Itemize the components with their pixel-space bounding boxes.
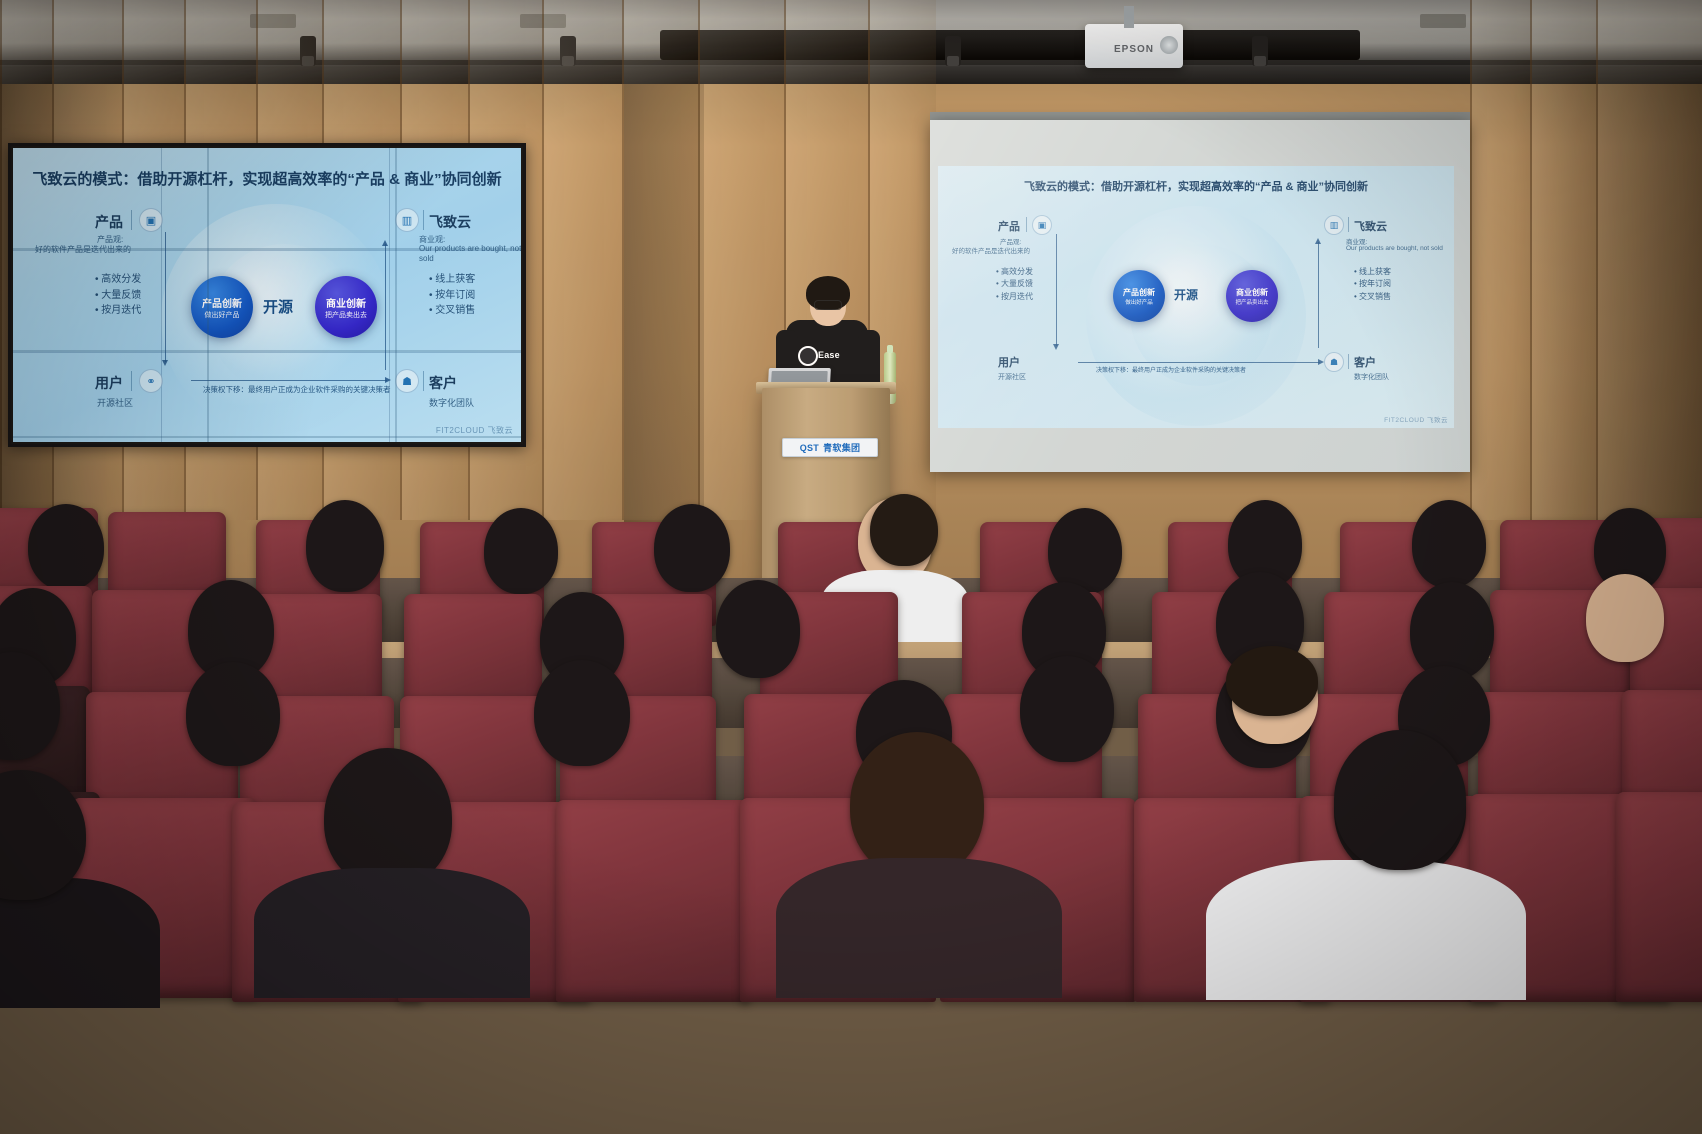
audience-head xyxy=(534,660,630,766)
ball-line-1: 商业创新 xyxy=(1236,287,1268,298)
node-subtext-product: 好的软件产品是迭代出来的 xyxy=(952,245,1030,255)
node-divider xyxy=(423,371,424,391)
bullets-business: • 线上获客 • 按年订阅 • 交叉销售 xyxy=(419,272,475,319)
audience-head xyxy=(324,748,452,888)
podium-sign-brand: QST xyxy=(800,443,819,453)
arrow-customer-to-company xyxy=(1318,242,1319,348)
arrow-head-icon xyxy=(162,360,168,366)
arrow-head-icon xyxy=(1318,359,1324,365)
slide-title: 飞致云的模式：借助开源杠杆，实现超高效率的“产品 & 商业”协同创新 xyxy=(13,168,521,189)
slide-title: 飞致云的模式：借助开源杠杆，实现超高效率的“产品 & 商业”协同创新 xyxy=(938,178,1454,194)
slide-grid-line xyxy=(13,352,521,353)
audience-shoulders xyxy=(1206,860,1526,1000)
slide-left-copy: 飞致云的模式：借助开源杠杆，实现超高效率的“产品 & 商业”协同创新 产品 ▣ … xyxy=(13,148,521,442)
bullet-item: • 按年订阅 xyxy=(1346,278,1391,290)
slide-watermark: FIT2CLOUD 飞致云 xyxy=(1384,414,1448,424)
audience-head xyxy=(1410,582,1494,680)
arrow-head-icon xyxy=(1315,238,1321,244)
bullets-business: • 线上获客 • 按年订阅 • 交叉销售 xyxy=(1346,266,1391,303)
audience-head xyxy=(1020,656,1114,762)
audience-shoulders xyxy=(254,868,530,998)
lecture-hall-photo: EPSON 飞致云的模式：借助开源杠杆，实现超高效率的“产品 & 商业”协同创新 xyxy=(0,0,1702,1134)
presenter-glasses xyxy=(814,300,842,310)
bullet-item: • 按年订阅 xyxy=(419,288,475,304)
led-tile-seam xyxy=(13,350,521,352)
node-divider xyxy=(1348,217,1349,232)
node-divider xyxy=(131,371,132,391)
ceiling-vent xyxy=(1420,14,1466,28)
center-word-opensource: 开源 xyxy=(1174,286,1198,303)
bullet-item: • 大量反馈 xyxy=(988,278,1033,290)
led-tile-seam xyxy=(395,148,397,442)
audience-head xyxy=(306,500,384,592)
node-label-fit2cloud: 飞致云 xyxy=(429,212,471,232)
node-subtext-customer: 数字化团队 xyxy=(429,396,474,409)
slide-watermark: FIT2CLOUD 飞致云 xyxy=(436,425,513,436)
node-label-product: 产品 xyxy=(95,212,123,232)
led-tile-seam xyxy=(207,148,209,442)
node-subtext-user: 开源社区 xyxy=(998,372,1026,382)
node-label-customer: 客户 xyxy=(1354,354,1376,370)
arrow-head-icon xyxy=(382,240,388,246)
bullets-product: • 高效分发 • 大量反馈 • 按月迭代 xyxy=(85,272,141,319)
audience-head xyxy=(870,494,938,566)
arrow-user-to-customer xyxy=(1078,362,1320,363)
podium-sign-name: 青软集团 xyxy=(823,441,860,454)
audience-seating: 08 27 13 11 xyxy=(0,470,1702,1134)
center-word-opensource: 开源 xyxy=(263,296,293,317)
audience-head xyxy=(1334,730,1466,870)
flow-arrow-text: 决策权下移：最终用户正成为企业软件采购的关键决策者 xyxy=(203,384,391,395)
presenter-shirt-logo: Ease xyxy=(818,350,840,360)
node-divider xyxy=(1026,217,1027,232)
podium-sign: QST 青软集团 xyxy=(782,438,878,457)
led-tile-seam xyxy=(13,248,521,250)
bullet-item: • 高效分发 xyxy=(85,272,141,288)
node-label-fit2cloud: 飞致云 xyxy=(1354,218,1387,234)
bullets-product: • 高效分发 • 大量反馈 • 按月迭代 xyxy=(988,266,1033,303)
audience-head xyxy=(716,580,800,678)
node-label-user: 用户 xyxy=(95,373,123,393)
led-display-content: 飞致云的模式：借助开源杠杆，实现超高效率的“产品 & 商业”协同创新 产品 ▣ … xyxy=(13,148,521,442)
bank-icon: ▥ xyxy=(395,208,419,232)
audience-head xyxy=(28,504,104,590)
bullet-item: • 交叉销售 xyxy=(1346,291,1391,303)
arrow-head-icon xyxy=(385,377,391,383)
projection-screen-content: 飞致云的模式：借助开源杠杆，实现超高效率的“产品 & 商业”协同创新 产品 ▣ … xyxy=(938,166,1454,428)
bullet-item: • 按月迭代 xyxy=(85,303,141,319)
node-divider xyxy=(1348,354,1349,369)
product-innovation-ball: 产品创新 做出好产品 xyxy=(1113,270,1165,322)
slide-right-copy: 飞致云的模式：借助开源杠杆，实现超高效率的“产品 & 商业”协同创新 产品 ▣ … xyxy=(938,166,1454,428)
ball-line-1: 产品创新 xyxy=(1123,287,1155,298)
audience-head xyxy=(1586,574,1664,662)
arrow-user-to-customer xyxy=(191,380,387,381)
bullet-item: • 大量反馈 xyxy=(85,288,141,304)
track-light xyxy=(1252,36,1268,66)
ball-line-2: 做出好产品 xyxy=(205,310,240,320)
arrow-product-to-user xyxy=(1056,234,1057,346)
ball-line-2: 做出好产品 xyxy=(1125,298,1153,306)
node-subtext-user: 开源社区 xyxy=(97,396,133,409)
bullet-item: • 高效分发 xyxy=(988,266,1033,278)
arrow-product-to-user xyxy=(165,232,166,362)
audience-head xyxy=(850,732,984,878)
cube-icon: ▣ xyxy=(139,208,163,232)
seat[interactable] xyxy=(556,800,750,1002)
ball-line-1: 商业创新 xyxy=(326,295,366,310)
projector-mount xyxy=(1124,6,1134,28)
node-subtext-business: Our products are bought, not sold xyxy=(419,244,521,264)
bullet-item: • 交叉销售 xyxy=(419,303,475,319)
presenter-shirt-emblem xyxy=(798,346,818,366)
audience-head xyxy=(1048,508,1122,594)
projector-lens xyxy=(1160,36,1178,54)
bullet-item: • 按月迭代 xyxy=(988,291,1033,303)
wall-plank xyxy=(542,0,624,520)
node-divider xyxy=(423,210,424,230)
business-innovation-ball: 商业创新 把产品卖出去 xyxy=(1226,270,1278,322)
slide-grid-line xyxy=(389,148,390,442)
bullet-item: • 线上获客 xyxy=(1346,266,1391,278)
bank-icon: ▥ xyxy=(1324,215,1344,235)
seat[interactable] xyxy=(1616,792,1702,1002)
users-icon: ⚭ xyxy=(139,369,163,393)
flow-arrow-text: 决策权下移：最终用户正成为企业软件采购的关键决策者 xyxy=(1096,365,1246,374)
product-innovation-ball: 产品创新 做出好产品 xyxy=(191,276,253,338)
user-icon: ☗ xyxy=(395,369,419,393)
node-subtext-business: Our products are bought, not sold xyxy=(1346,245,1446,253)
slide-grid-line xyxy=(161,148,162,442)
node-label-user: 用户 xyxy=(998,354,1020,370)
ball-line-2: 把产品卖出去 xyxy=(1235,298,1268,306)
node-divider xyxy=(131,210,132,230)
audience-head xyxy=(1412,500,1486,588)
audience-head xyxy=(484,508,558,594)
bullet-item: • 线上获客 xyxy=(419,272,475,288)
track-light xyxy=(945,36,961,66)
ball-line-2: 把产品卖出去 xyxy=(325,310,367,320)
led-tile-seam xyxy=(13,436,521,438)
business-innovation-ball: 商业创新 把产品卖出去 xyxy=(315,276,377,338)
node-label-product: 产品 xyxy=(998,218,1020,234)
user-icon: ☗ xyxy=(1324,352,1344,372)
audience-head xyxy=(186,662,280,766)
node-label-customer: 客户 xyxy=(429,373,457,393)
audience-head xyxy=(654,504,730,592)
arrow-head-icon xyxy=(1053,344,1059,350)
led-wall-display[interactable]: 飞致云的模式：借助开源杠杆，实现超高效率的“产品 & 商业”协同创新 产品 ▣ … xyxy=(8,143,526,447)
node-subtext-customer: 数字化团队 xyxy=(1354,372,1389,382)
audience-head xyxy=(1226,646,1318,716)
audience-shoulders xyxy=(776,858,1062,998)
cube-icon: ▣ xyxy=(1032,215,1052,235)
